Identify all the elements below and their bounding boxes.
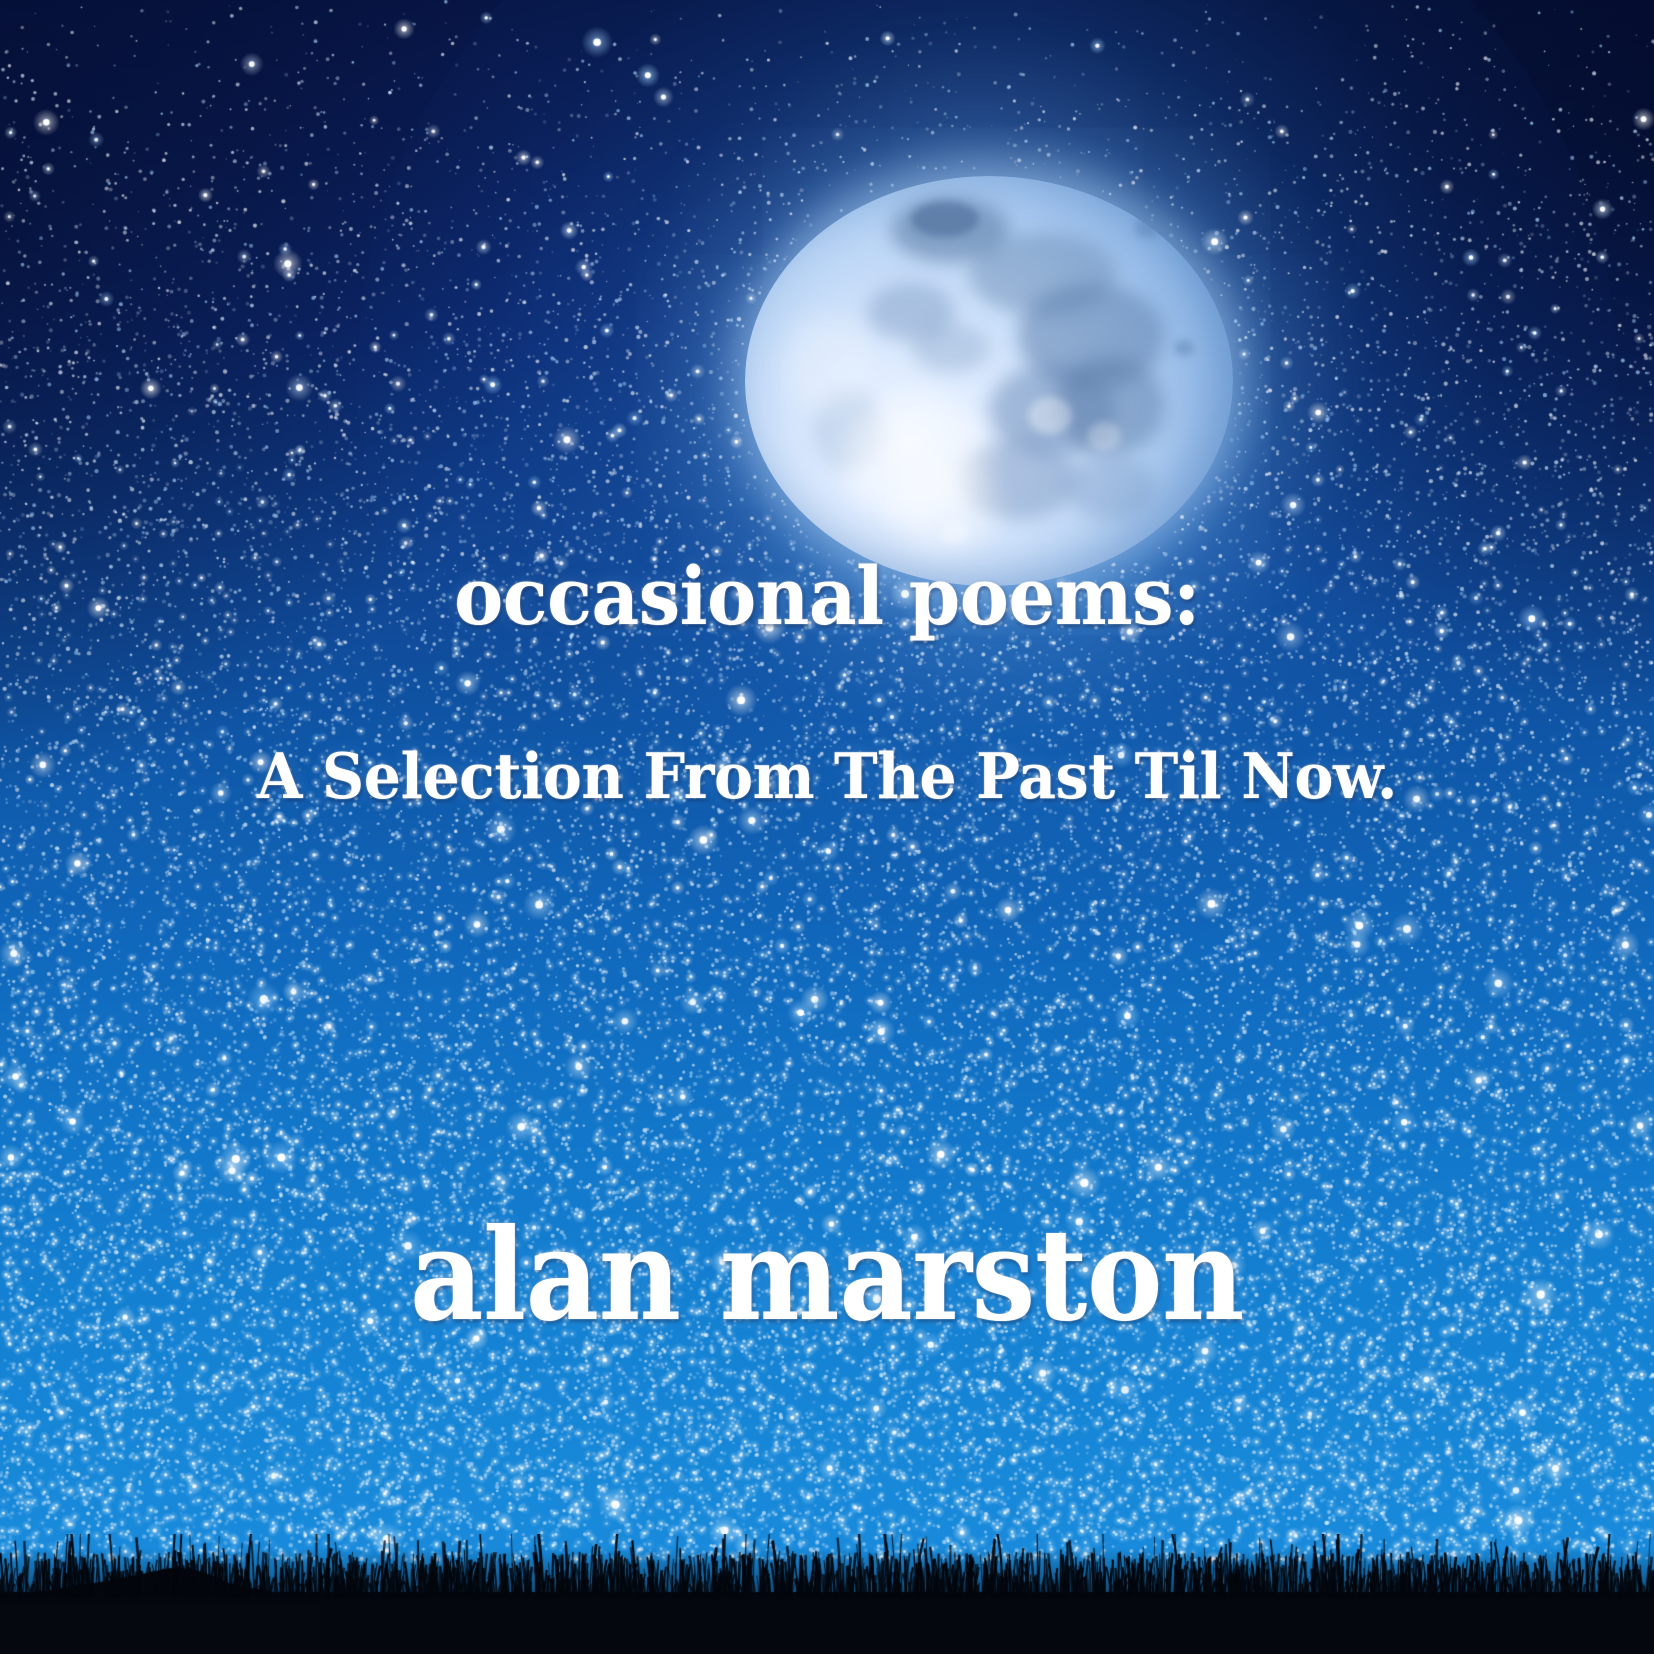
cover-text: occasional poems: A Selection From The P… (0, 0, 1654, 1654)
book-cover: occasional poems: A Selection From The P… (0, 0, 1654, 1654)
page-title: occasional poems: (66, 556, 1588, 636)
cover-subtitle: A Selection From The Past Til Now. (58, 745, 1596, 808)
author-name: alan marston (83, 1212, 1572, 1338)
